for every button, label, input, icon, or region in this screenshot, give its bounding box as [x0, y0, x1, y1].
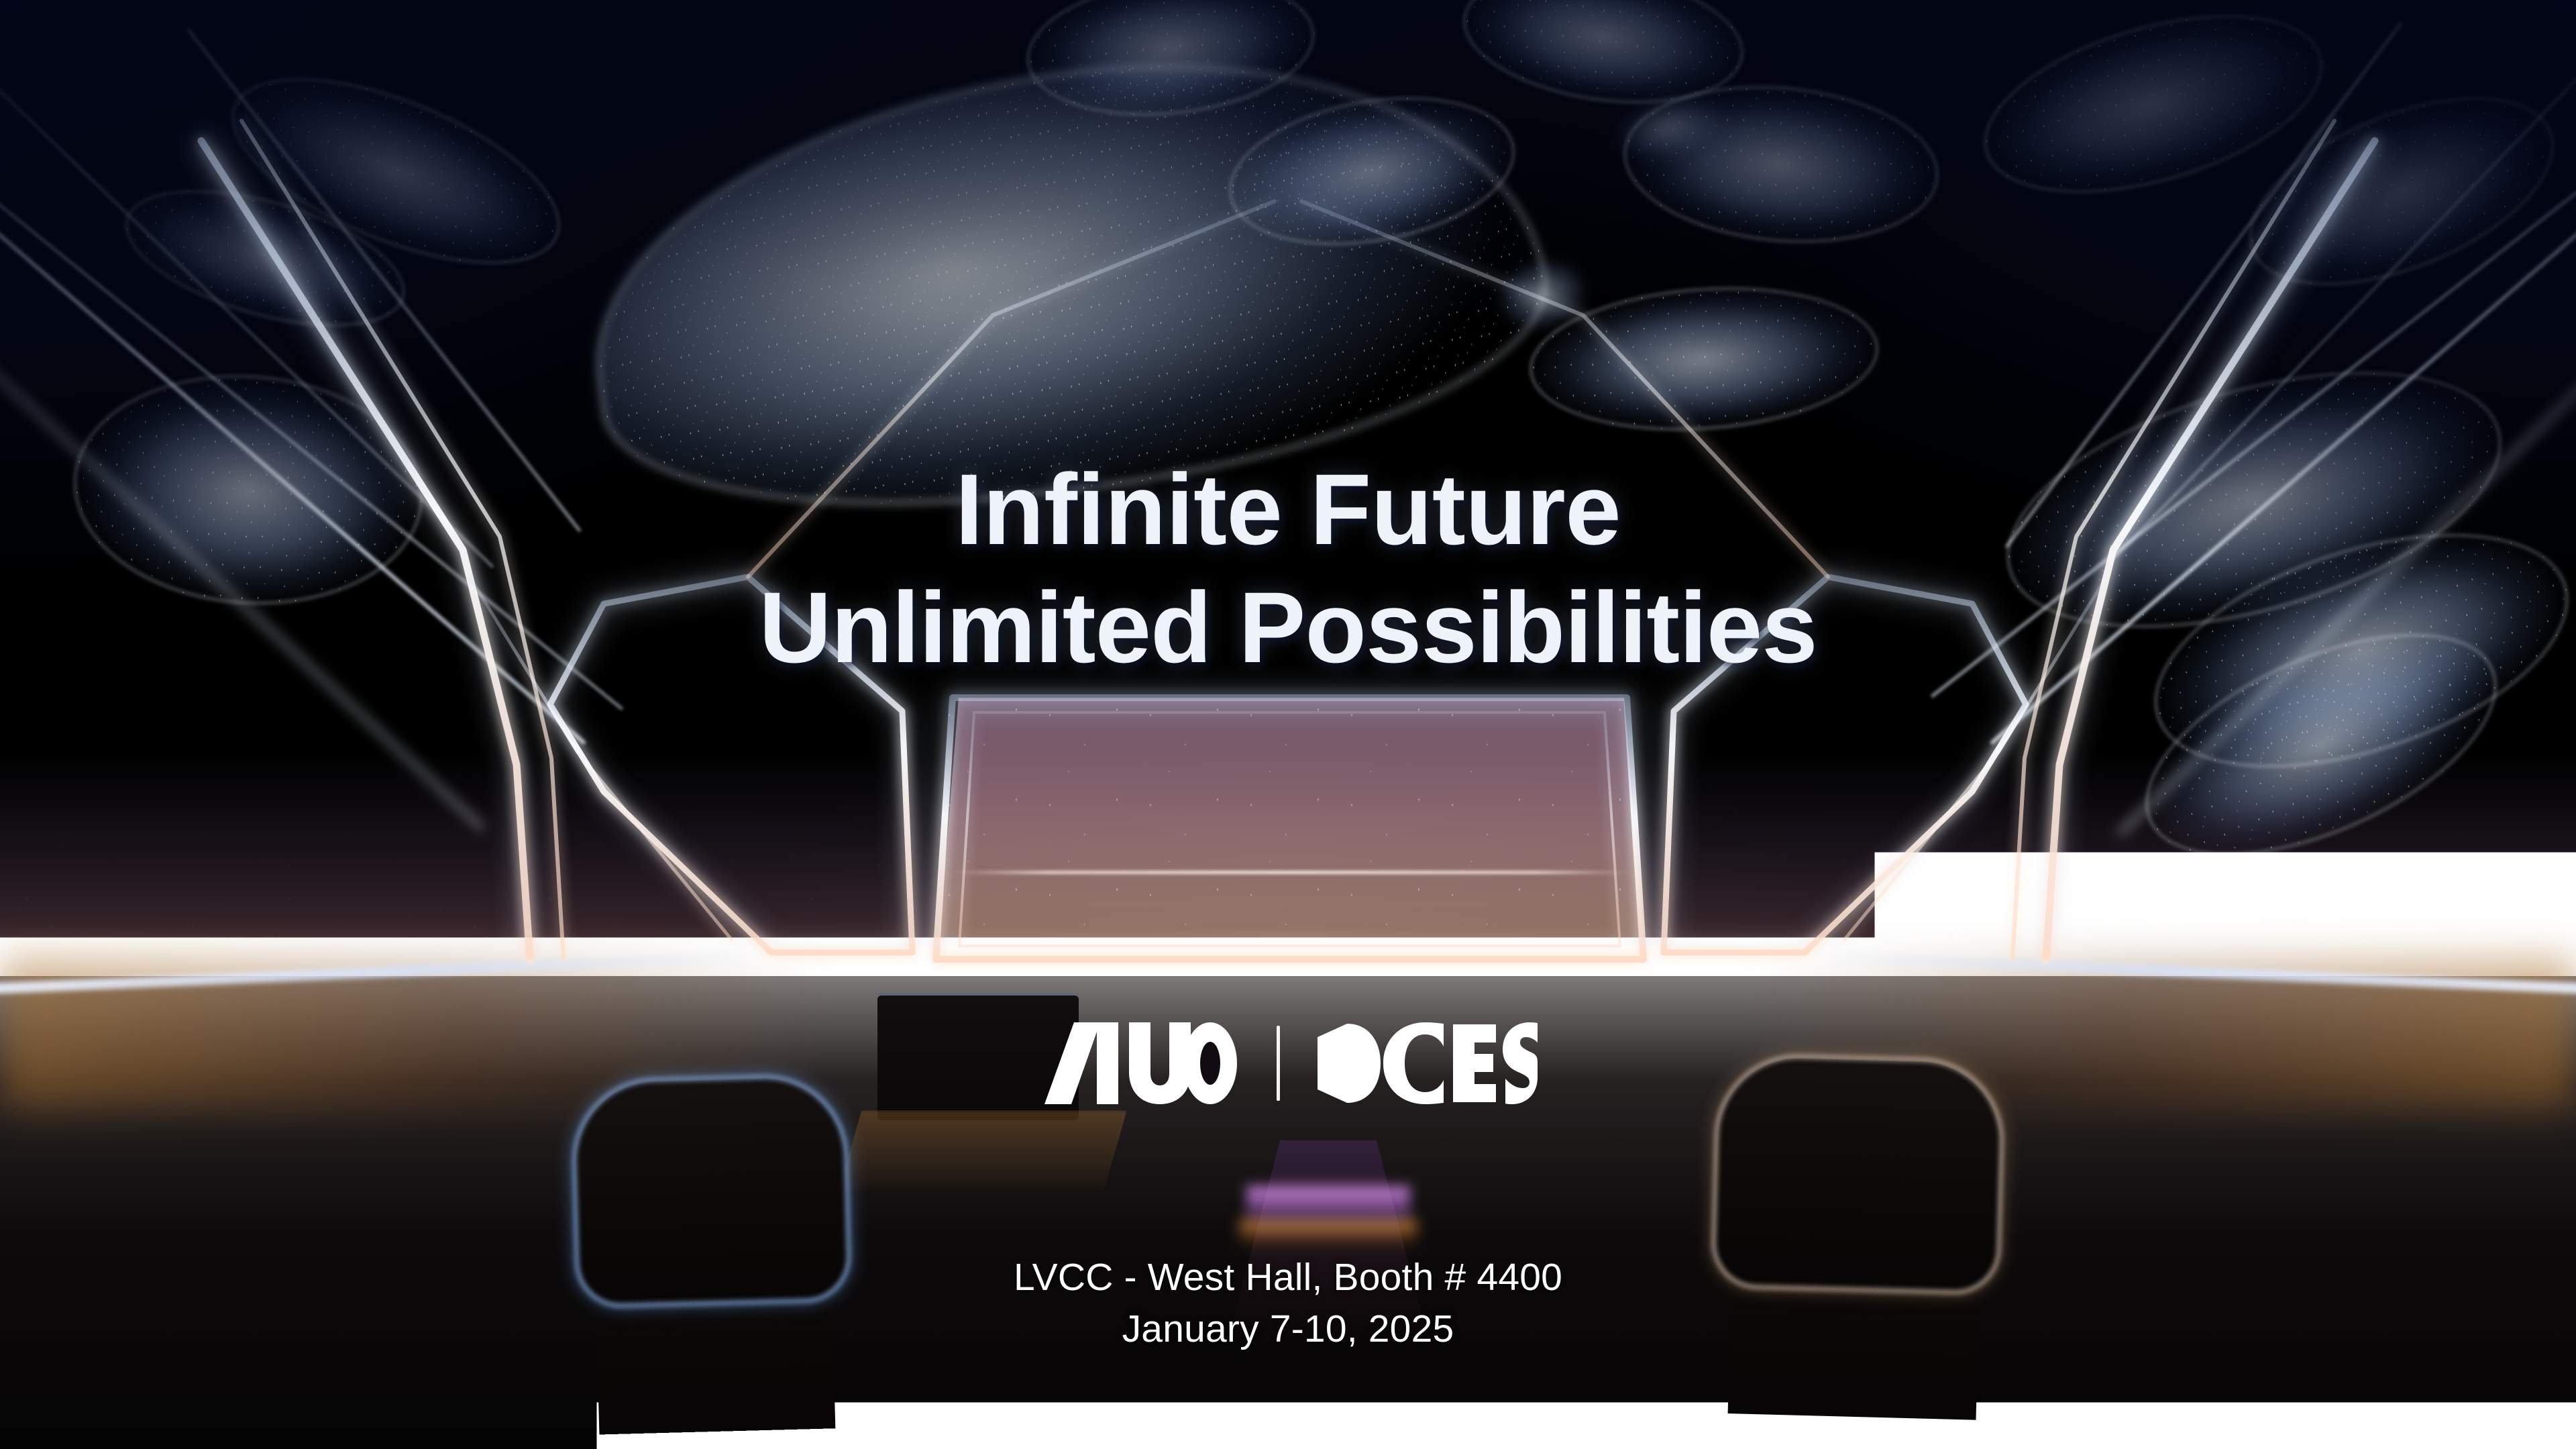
venue-text: LVCC - West Hall, Booth # 4400: [0, 1252, 2576, 1303]
headline-line-2: Unlimited Possibilities: [0, 569, 2576, 687]
key-visual-poster: Infinite Future Unlimited Possibilities: [0, 0, 2576, 1449]
logo-row: ™: [0, 1022, 2576, 1104]
headline-line-1: Infinite Future: [0, 451, 2576, 569]
ces-logo: ™: [1316, 1022, 1538, 1104]
trademark-symbol: ™: [1521, 1024, 1538, 1042]
page-title: Infinite Future Unlimited Possibilities: [0, 451, 2576, 686]
center-console-glow-amber: [1240, 1220, 1417, 1248]
dashboard-rail: [839, 1110, 1127, 1191]
auo-logo: [1039, 1022, 1240, 1104]
dates-text: January 7-10, 2025: [0, 1303, 2576, 1355]
event-details: LVCC - West Hall, Booth # 4400 January 7…: [0, 1252, 2576, 1355]
logo-divider: [1277, 1026, 1280, 1101]
